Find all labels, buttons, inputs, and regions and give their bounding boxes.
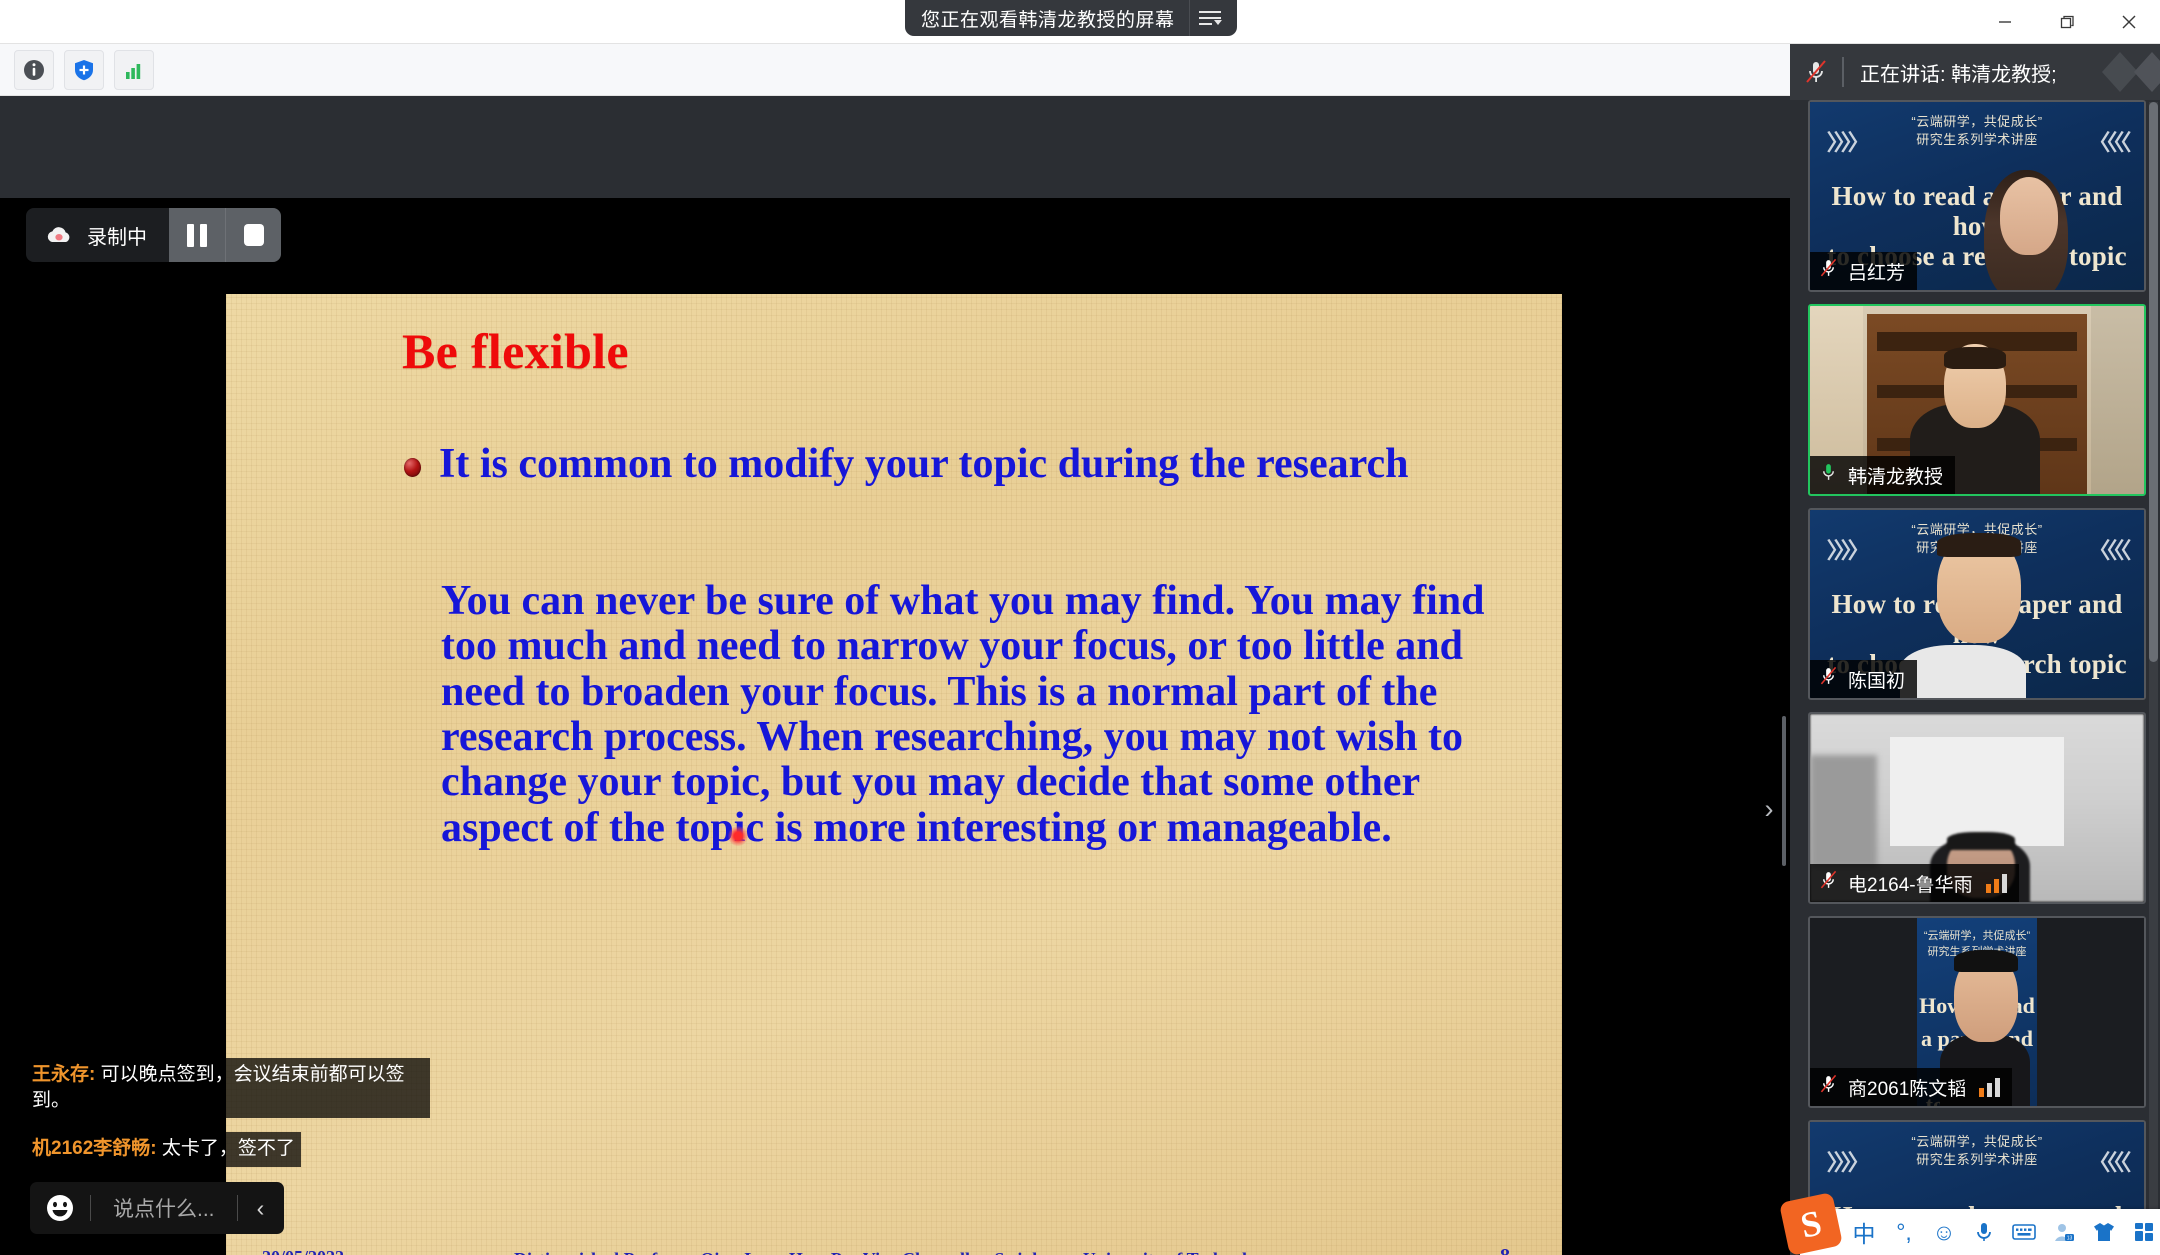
chat-sender-name: 机2162李舒畅: [32, 1138, 157, 1159]
participant-name-badge: 吕红芳 [1810, 252, 1917, 290]
stage-scrollbar[interactable] [1782, 716, 1786, 866]
window-controls [1974, 0, 2160, 44]
slide-title: Be flexible [402, 322, 629, 380]
active-speaker-label: 正在讲话: 韩清龙教授; [1844, 58, 2057, 87]
participant-name: 韩清龙教授 [1848, 462, 1943, 489]
watching-screen-label: 您正在观看韩清龙教授的屏幕 [921, 5, 1189, 32]
stop-recording-button[interactable] [225, 208, 281, 262]
svg-text:13: 13 [2067, 1236, 2073, 1242]
skin-icon[interactable] [2084, 1209, 2124, 1255]
mic-active-icon [1818, 461, 1839, 489]
participant-name: 陈国初 [1848, 666, 1905, 693]
recording-bar: 录制中 [26, 208, 281, 262]
ime-toolbar: S 中 °, ☺ [1800, 1209, 2160, 1255]
stop-icon [244, 224, 264, 246]
chat-message: 王永存: 可以晚点签到，会议结束前都可以签到。 [30, 1058, 430, 1122]
slide-bullet-item: It is common to modify your topic during… [404, 442, 1464, 487]
hamburger-menu-icon[interactable] [1189, 0, 1231, 36]
mic-muted-icon [1818, 869, 1839, 897]
slide-footer: Distinguished Professor Qing-Long Han, P… [226, 1248, 1562, 1255]
chevron-right-icon[interactable]: › [1756, 786, 1782, 832]
laser-pointer-icon [728, 826, 748, 846]
participant-name-badge: 陈国初 [1810, 660, 1917, 698]
signal-bars-icon [1986, 874, 2007, 893]
participant-name: 电2164-鲁华雨 [1848, 870, 1973, 897]
participant-tile[interactable]: 电2164-鲁华雨 [1808, 712, 2146, 904]
participant-name-badge: 电2164-鲁华雨 [1810, 864, 2019, 902]
chat-overlay: 王永存: 可以晚点签到，会议结束前都可以签到。 机2162李舒畅: 太卡了，签不… [30, 1058, 430, 1171]
active-speaker-bar: 正在讲话: 韩清龙教授; [1790, 44, 2160, 100]
mic-muted-icon [1818, 257, 1839, 285]
punctuation-icon[interactable]: °, [1884, 1209, 1924, 1255]
chat-sender-name: 王永存: [32, 1064, 95, 1085]
voice-input-icon[interactable] [1964, 1209, 2004, 1255]
signal-bars-icon [1979, 1078, 2000, 1097]
participant-tile[interactable]: “云端研学，共促成长” 研究生系列学术讲座 How to read a pape… [1808, 916, 2146, 1108]
participants-scrollbar[interactable] [2149, 102, 2158, 1252]
mic-muted-icon [1790, 58, 1842, 86]
soft-keyboard-icon[interactable] [2004, 1209, 2044, 1255]
participant-name: 商2061陈文韬 [1848, 1074, 1966, 1101]
slide-bullet-text: It is common to modify your topic during… [439, 442, 1408, 487]
participant-tile[interactable]: 〉〉〉〉 〈〈〈〈 “云端研学，共促成长” 研究生系列学术讲座 How to r… [1808, 100, 2146, 292]
signal-bars-icon[interactable] [114, 50, 154, 90]
chat-message: 机2162李舒畅: 太卡了，签不了 [30, 1132, 430, 1170]
toolbox-icon[interactable] [2124, 1209, 2160, 1255]
recording-status: 录制中 [26, 208, 169, 262]
info-icon[interactable] [14, 50, 54, 90]
participant-name-badge: 商2061陈文韬 [1810, 1068, 2012, 1106]
person-silhouette [1900, 645, 2026, 698]
poster-top-text: “云端研学，共促成长” 研究生系列学术讲座 [1810, 113, 2144, 148]
slide-page-number: 8 [1500, 1245, 1510, 1255]
person-face [2000, 177, 2058, 255]
minimize-button[interactable] [1974, 0, 2036, 44]
participant-name-badge: 韩清龙教授 [1810, 456, 1955, 494]
close-button[interactable] [2098, 0, 2160, 44]
chat-message-text: 太卡了，签不了 [157, 1138, 295, 1159]
shield-add-icon[interactable] [64, 50, 104, 90]
chat-input-placeholder[interactable]: 说点什么... [91, 1193, 237, 1223]
participant-name: 吕红芳 [1848, 258, 1905, 285]
ime-icon-group: 中 °, ☺ [1844, 1209, 2160, 1255]
zoom-meeting-window: 您正在观看韩清龙教授的屏幕 [0, 0, 2160, 1255]
slide-paragraph: You can never be sure of what you may fi… [441, 579, 1501, 851]
chevron-left-icon[interactable]: ‹ [238, 1195, 284, 1222]
decorative-shape [2088, 50, 2160, 94]
pause-icon [187, 224, 207, 247]
bullet-dot-icon [404, 458, 421, 477]
poster-top-text: “云端研学，共促成长” 研究生系列学术讲座 [1810, 1133, 2144, 1168]
mic-muted-icon [1818, 665, 1839, 693]
emoji-icon[interactable]: ☺ [1924, 1209, 1964, 1255]
user-icon[interactable]: 13 [2044, 1209, 2084, 1255]
participant-tile[interactable]: 韩清龙教授 [1808, 304, 2146, 496]
pause-recording-button[interactable] [169, 208, 225, 262]
watching-screen-banner[interactable]: 您正在观看韩清龙教授的屏幕 [905, 0, 1237, 36]
smiley-icon[interactable] [30, 1192, 90, 1224]
sogou-logo-icon[interactable]: S [1779, 1192, 1843, 1255]
share-stage: 录制中 Be flexible It is common to modify y… [0, 96, 1790, 1255]
participant-tile[interactable]: 〉〉〉〉 〈〈〈〈 “云端研学，共促成长” 研究生系列学术讲座 How to r… [1808, 508, 2146, 700]
chat-input-bar[interactable]: 说点什么... ‹ [30, 1182, 284, 1234]
maximize-button[interactable] [2036, 0, 2098, 44]
cloud-recording-icon [44, 224, 74, 246]
participants-panel: 正在讲话: 韩清龙教授; 〉〉〉〉 〈〈〈〈 “云端研学，共促成长” [1790, 44, 2160, 1255]
mic-muted-icon [1818, 1073, 1839, 1101]
recording-label: 录制中 [87, 221, 147, 250]
chinese-mode-icon[interactable]: 中 [1844, 1209, 1884, 1255]
participant-tile-list[interactable]: 〉〉〉〉 〈〈〈〈 “云端研学，共促成长” 研究生系列学术讲座 How to r… [1790, 100, 2154, 1255]
